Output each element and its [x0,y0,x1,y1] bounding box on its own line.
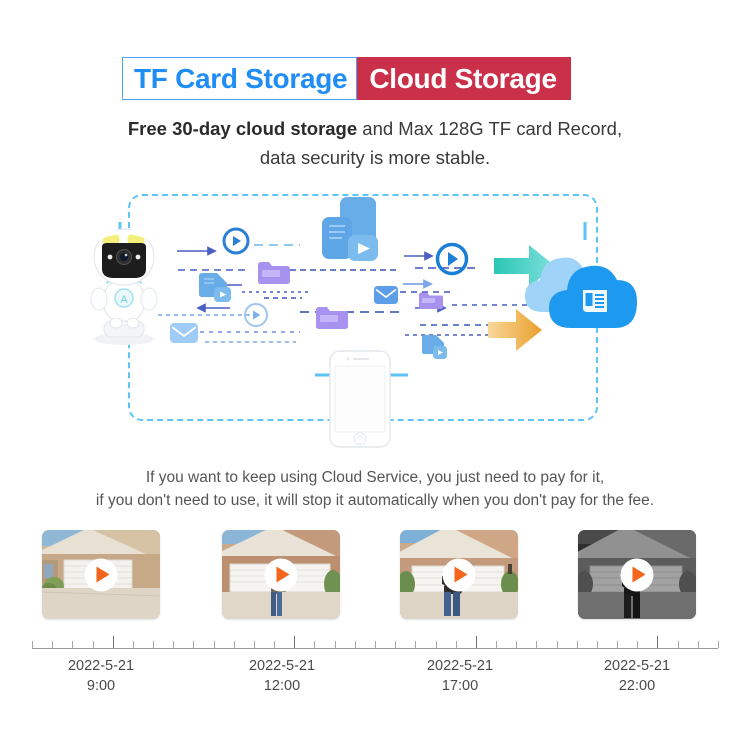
timeline-tick [93,641,94,648]
clip-thumbnail-3[interactable] [400,530,518,619]
timeline-tick [314,641,315,648]
timeline-tick [395,641,396,648]
timeline-label-3: 2022-5-21 17:00 [390,656,530,696]
tab-cloud-storage[interactable]: Cloud Storage [357,57,570,100]
timeline-label-2: 2022-5-21 12:00 [212,656,352,696]
play-button[interactable] [85,558,118,591]
smartphone-illustration [329,350,391,448]
timeline-tick [153,641,154,648]
clip-thumbnail-4[interactable] [578,530,696,619]
timeline-tick [234,641,235,648]
timeline-tick [436,641,437,648]
timeline-axis [32,648,718,649]
document-stack-icon [318,197,388,282]
mail-icon [373,285,399,310]
play-circle-icon[interactable] [435,242,469,281]
subtitle-line-2: data security is more stable. [0,143,750,172]
timeline-tick [496,641,497,648]
subtitle-rest: and Max 128G TF card Record, [357,118,622,139]
timeline-tick [133,641,134,648]
timeline-tick-major [113,636,114,648]
timeline-tick [32,641,33,648]
timeline-tick [637,641,638,648]
folder-icon [418,290,444,315]
play-button[interactable] [621,558,654,591]
subtitle: Free 30-day cloud storage and Max 128G T… [0,114,750,172]
play-triangle-icon [455,567,468,583]
timeline-tick [274,641,275,648]
folder-icon [257,259,291,290]
timeline-tick [597,641,598,648]
subtitle-line-1: Free 30-day cloud storage and Max 128G T… [0,114,750,143]
robot-camera-illustration: A [76,225,172,345]
timeline-date: 2022-5-21 [31,656,171,676]
timeline-tick [577,641,578,648]
timeline-tick [52,641,53,648]
video-file-icon [420,334,448,365]
timeline-tick-major [476,636,477,648]
timeline-tick [214,641,215,648]
timeline-tick [718,641,719,648]
play-circle-icon[interactable] [243,302,269,333]
timeline-label-4: 2022-5-21 22:00 [567,656,707,696]
timeline-tick [456,641,457,648]
timeline-tick [335,641,336,648]
folder-icon [315,304,349,335]
timeline-tick-major [657,636,658,648]
recording-timeline[interactable]: 2022-5-21 9:00 2022-5-21 12:00 2022-5-21… [0,634,750,734]
timeline-tick [617,641,618,648]
timeline-tick [678,641,679,648]
storage-flow-diagram: A [0,180,750,450]
cloud-service-note: If you want to keep using Cloud Service,… [0,466,750,512]
timeline-tick [355,641,356,648]
timeline-date: 2022-5-21 [212,656,352,676]
timeline-tick [173,641,174,648]
play-button[interactable] [265,558,298,591]
timeline-time: 22:00 [567,676,707,696]
timeline-date: 2022-5-21 [567,656,707,676]
timeline-time: 12:00 [212,676,352,696]
play-triangle-icon [97,567,110,583]
timeline-tick [375,641,376,648]
play-circle-icon[interactable] [222,227,250,260]
timeline-tick [536,641,537,648]
timeline-time: 9:00 [31,676,171,696]
timeline-tick [254,641,255,648]
play-triangle-icon [277,567,290,583]
video-file-icon [197,272,231,309]
tab-tf-card-storage[interactable]: TF Card Storage [122,57,357,100]
timeline-tick [557,641,558,648]
subtitle-bold: Free 30-day cloud storage [128,118,357,139]
cloud-storage-icon [523,242,647,332]
timeline-label-1: 2022-5-21 9:00 [31,656,171,696]
svg-text:A: A [120,294,128,306]
timeline-tick-major [294,636,295,648]
title-banner: TF Card Storage Cloud Storage [122,57,571,100]
mail-icon [169,322,199,349]
play-button[interactable] [443,558,476,591]
timeline-time: 17:00 [390,676,530,696]
clip-thumbnail-row [0,530,750,624]
clip-thumbnail-1[interactable] [42,530,160,619]
timeline-tick [516,641,517,648]
timeline-tick [193,641,194,648]
play-triangle-icon [633,567,646,583]
timeline-tick [72,641,73,648]
timeline-date: 2022-5-21 [390,656,530,676]
note-line-2: if you don't need to use, it will stop i… [0,489,750,512]
note-line-1: If you want to keep using Cloud Service,… [0,466,750,489]
clip-thumbnail-2[interactable] [222,530,340,619]
timeline-tick [415,641,416,648]
timeline-tick [698,641,699,648]
